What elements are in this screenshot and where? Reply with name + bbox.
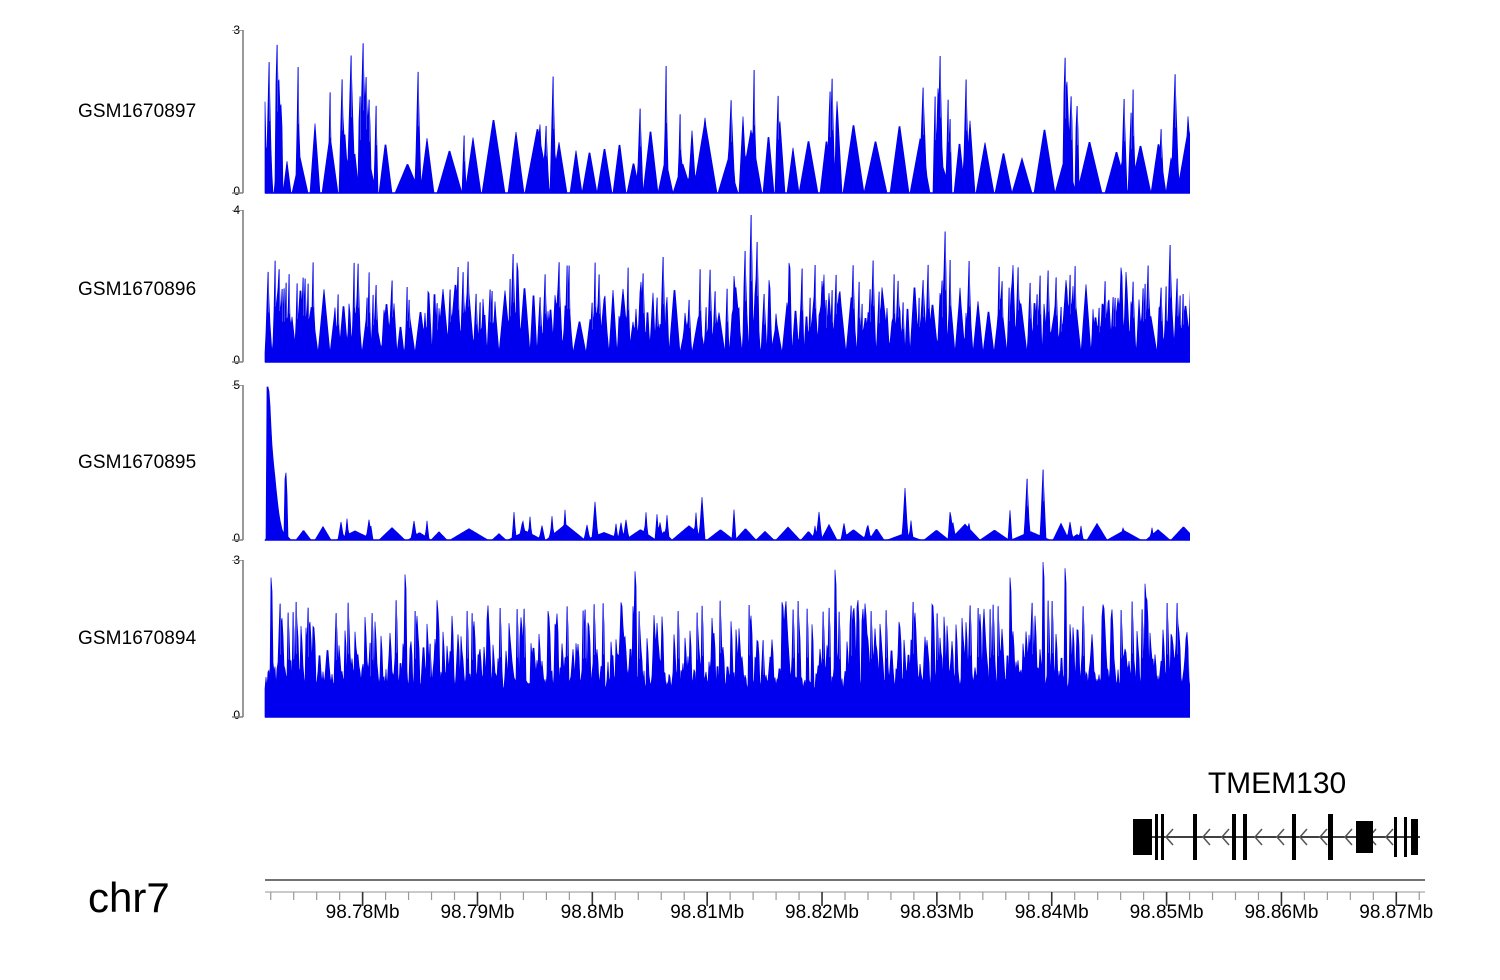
y-axis-bracket bbox=[232, 385, 243, 540]
coverage-area bbox=[265, 387, 1190, 540]
chromosome-label: chr7 bbox=[88, 874, 170, 922]
y-axis-bracket bbox=[232, 560, 243, 717]
axis-tick-label: 98.78Mb bbox=[326, 902, 400, 924]
axis-tick-label: 98.86Mb bbox=[1244, 902, 1318, 924]
gene-exon[interactable] bbox=[1193, 814, 1197, 860]
coverage-area bbox=[265, 32, 1190, 193]
axis-tick-label: 98.8Mb bbox=[561, 902, 624, 924]
coverage-plot[interactable] bbox=[0, 30, 1190, 195]
coverage-track[interactable]: GSM167089640 bbox=[0, 210, 1500, 362]
gene-exon[interactable] bbox=[1155, 814, 1158, 860]
gene-annotation-track[interactable]: TMEM130 bbox=[0, 755, 1500, 865]
coverage-plot[interactable] bbox=[0, 210, 1190, 364]
gene-exon[interactable] bbox=[1232, 814, 1236, 860]
axis-tick-label: 98.82Mb bbox=[785, 902, 859, 924]
genome-coordinate-axis: chr7 98.78Mb98.79Mb98.8Mb98.81Mb98.82Mb9… bbox=[0, 866, 1500, 980]
y-axis-bracket bbox=[232, 210, 243, 362]
gene-exon[interactable] bbox=[1243, 814, 1247, 860]
axis-tick-label: 98.85Mb bbox=[1130, 902, 1204, 924]
gene-exon[interactable] bbox=[1356, 821, 1373, 853]
coverage-plot[interactable] bbox=[0, 385, 1190, 542]
axis-tick-label: 98.79Mb bbox=[440, 902, 514, 924]
gene-exon[interactable] bbox=[1404, 817, 1407, 857]
coverage-area bbox=[265, 562, 1190, 717]
axis-tick-label: 98.87Mb bbox=[1359, 902, 1433, 924]
gene-exon[interactable] bbox=[1411, 819, 1418, 855]
coverage-track[interactable]: GSM167089550 bbox=[0, 385, 1500, 540]
gene-name-label: TMEM130 bbox=[1208, 767, 1346, 801]
axis-ruler-graphic bbox=[0, 866, 1500, 906]
axis-tick-label: 98.81Mb bbox=[670, 902, 744, 924]
axis-tick-label: 98.83Mb bbox=[900, 902, 974, 924]
gene-exon[interactable] bbox=[1292, 814, 1296, 860]
gene-exon[interactable] bbox=[1133, 819, 1152, 855]
coverage-area bbox=[265, 215, 1190, 362]
axis-tick-label: 98.84Mb bbox=[1015, 902, 1089, 924]
gene-exon[interactable] bbox=[1328, 814, 1333, 860]
gene-exon[interactable] bbox=[1161, 814, 1164, 860]
coverage-track[interactable]: GSM167089730 bbox=[0, 30, 1500, 193]
gene-exon[interactable] bbox=[1394, 817, 1397, 857]
coverage-track[interactable]: GSM167089430 bbox=[0, 560, 1500, 717]
y-axis-bracket bbox=[232, 30, 243, 193]
genome-browser: GSM167089730GSM167089640GSM167089550GSM1… bbox=[0, 0, 1500, 980]
coverage-plot[interactable] bbox=[0, 560, 1190, 719]
coverage-spike-highlights bbox=[1028, 390, 1191, 506]
